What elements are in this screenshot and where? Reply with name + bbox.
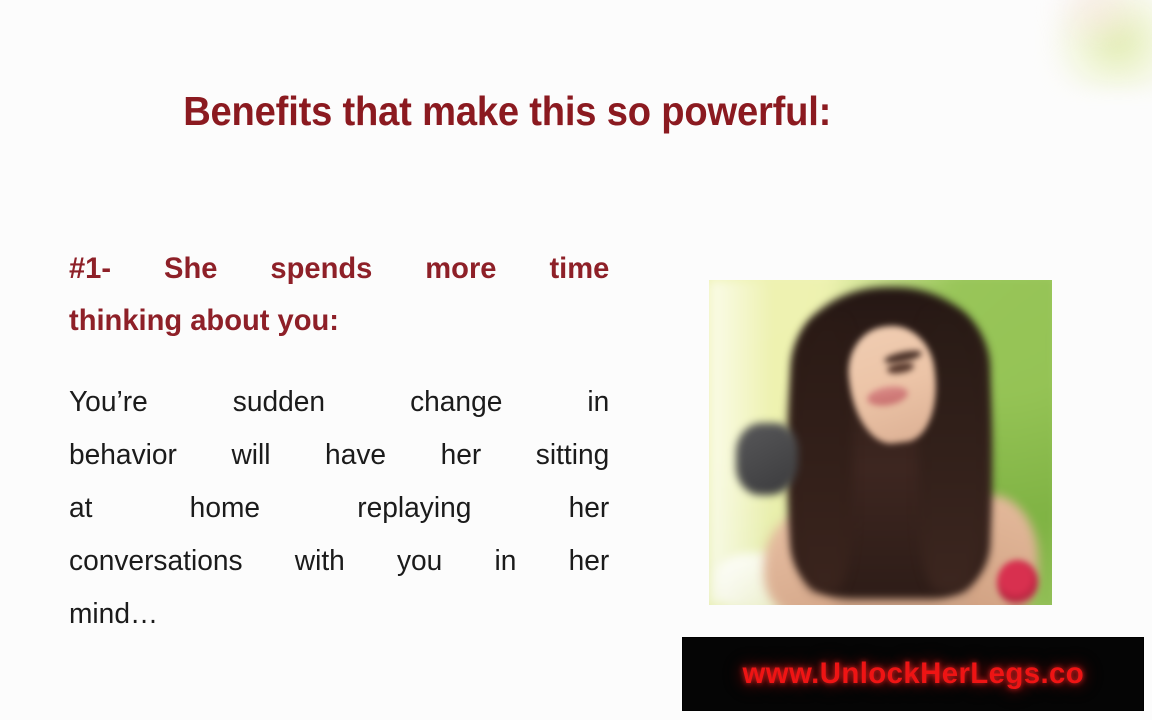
website-url-text: www.UnlockHerLegs.co [742, 657, 1084, 691]
benefit-heading-line-1: #1- She spends more time [69, 243, 609, 295]
benefit-body-line-1: You’re sudden change in [69, 376, 609, 429]
benefit-heading-line-2: thinking about you: [69, 295, 609, 347]
benefit-body-line-4: conversations with you in her [69, 535, 609, 588]
photo-pink-accent [997, 560, 1038, 606]
benefit-heading: #1- She spends more time thinking about … [69, 243, 609, 347]
benefit-body-line-2: behavior will have her sitting [69, 429, 609, 482]
portrait-photo-content [709, 280, 1052, 605]
portrait-photo [709, 280, 1052, 605]
benefit-text-column: #1- She spends more time thinking about … [69, 243, 626, 641]
page-title: Benefits that make this so powerful: [40, 86, 1111, 136]
benefit-body-line-5: mind… [69, 588, 609, 641]
website-url-banner[interactable]: www.UnlockHerLegs.co [683, 638, 1143, 710]
benefit-body: You’re sudden change in behavior will ha… [69, 376, 609, 641]
benefit-body-line-3: at home replaying her [69, 482, 609, 535]
slide-canvas: Benefits that make this so powerful: #1-… [0, 0, 1152, 720]
corner-bleed-artifact [1040, 0, 1152, 90]
photo-dark-object [736, 423, 798, 495]
corner-bleed-artifact-pink [1052, 0, 1142, 40]
